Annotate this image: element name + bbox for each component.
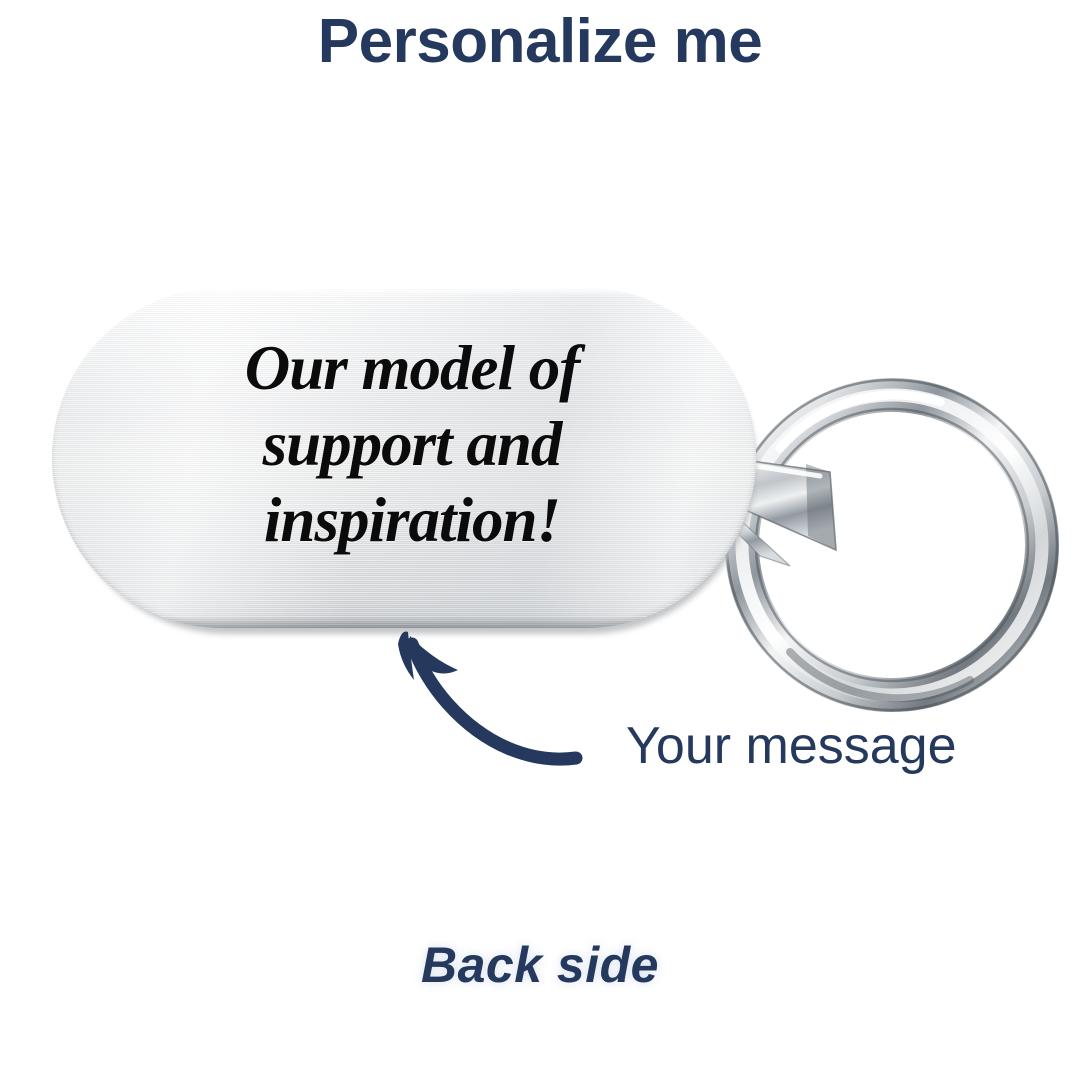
back-side-label: Back side (0, 936, 1080, 994)
tag-face: Our model of support and inspiration! (52, 288, 756, 628)
metal-tag: Our model of support and inspiration! (52, 288, 764, 636)
product-mockup-canvas: Personalize me (0, 0, 1080, 1080)
engraving-line-1: Our model of (202, 330, 622, 406)
engraved-message: Our model of support and inspiration! (202, 330, 622, 558)
your-message-label: Your message (626, 716, 957, 776)
engraving-line-2: support and (202, 406, 622, 482)
tag-sheen-overlay (52, 288, 756, 628)
keychain-illustration: Our model of support and inspiration! (0, 0, 1080, 1080)
tag-top-edge (52, 288, 756, 297)
annotation-arrow-icon (380, 618, 610, 788)
engraving-line-3: inspiration! (202, 482, 622, 558)
brushed-metal-texture (52, 288, 756, 628)
